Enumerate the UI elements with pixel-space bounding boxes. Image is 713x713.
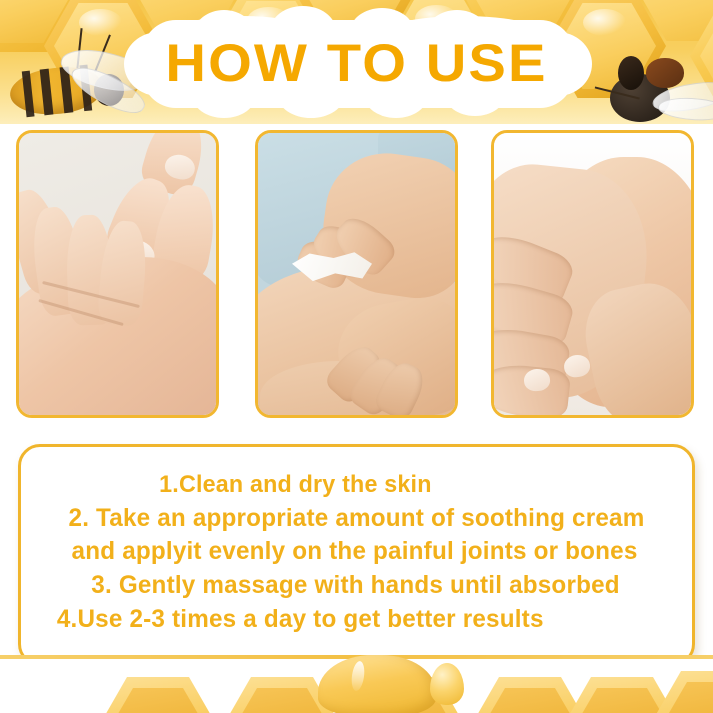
footer-honeycomb xyxy=(0,655,713,713)
instruction-step-3: 3. Gently massage with hands until absor… xyxy=(45,568,669,602)
honeycomb-cell xyxy=(468,677,592,713)
usage-photo-2 xyxy=(255,130,458,418)
instructions-box: 1.Clean and dry the skin 2. Take an appr… xyxy=(18,444,695,666)
honeycomb-cell xyxy=(96,677,220,713)
usage-photo-1 xyxy=(16,130,219,418)
honey-drop xyxy=(430,663,464,705)
honey-pour xyxy=(318,655,436,713)
instruction-step-4: 4.Use 2-3 times a day to get better resu… xyxy=(45,602,669,636)
usage-photo-row xyxy=(0,130,713,422)
instruction-step-2: 2. Take an appropriate amount of soothin… xyxy=(45,502,669,535)
how-to-use-infographic: HOW TO USE xyxy=(0,0,713,713)
instruction-step-1: 1.Clean and dry the skin xyxy=(45,468,669,502)
page-title: HOW TO USE xyxy=(0,28,713,100)
usage-photo-3 xyxy=(491,130,694,418)
instruction-step-2-cont: and applyit evenly on the painful joints… xyxy=(45,535,669,568)
